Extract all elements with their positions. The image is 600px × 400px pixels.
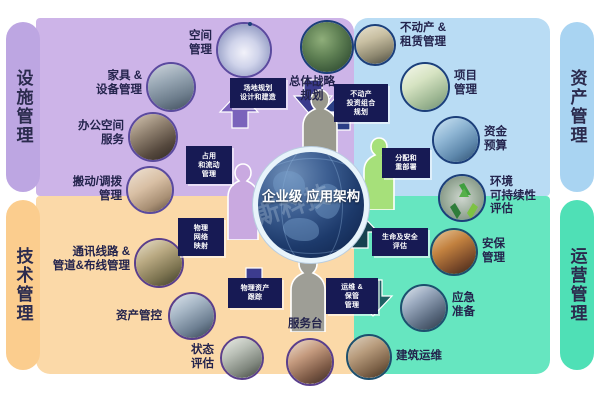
node-icon-security-management[interactable] [430,228,478,276]
moving-boxes-photo [128,168,172,212]
process-box-life-safety-assess[interactable]: 生命及安全 评估 [372,228,428,256]
recycle-photo [440,176,484,220]
server-monitor-photo [170,294,214,338]
office-desk-photo [148,64,194,110]
skyscraper-photo [356,26,394,64]
node-label-security-management: 安保 管理 [482,238,536,265]
node-icon-service-desk[interactable] [286,338,334,386]
process-box-ops-maintenance[interactable]: 运维 & 保管 管理 [326,278,378,314]
node-label-env-sustainability: 环境 可持续性 评估 [490,176,550,217]
node-icon-office-space-service[interactable] [128,112,178,162]
dam-water-photo [434,118,478,162]
node-label-realestate-lease: 不动产 & 租赁管理 [400,22,496,49]
recycle-icon [440,176,486,222]
node-icon-space-management[interactable] [216,22,272,78]
aerial-city-photo [302,22,352,72]
corridor-photo [218,24,270,76]
center-globe: 斯科技 企业级 应用架构 [253,147,369,263]
lightning-storm-photo [402,286,446,330]
spacer [248,22,252,26]
meeting-photo [130,114,176,160]
node-label-space-management: 空间 管理 [160,30,212,57]
maintenance-hands-photo [348,336,390,378]
node-icon-realestate-lease[interactable] [354,24,396,66]
node-label-service-desk: 服务台 [288,318,348,332]
globe-sphere: 斯科技 企业级 应用架构 [258,152,364,258]
node-icon-move-transfer[interactable] [126,166,174,214]
security-guard-photo [432,230,476,274]
node-icon-status-assessment[interactable] [220,336,264,380]
helpdesk-people-photo [288,340,332,384]
node-label-asset-control: 资产管控 [98,310,162,324]
node-icon-asset-control[interactable] [168,292,216,340]
network-room-photo [136,240,182,286]
process-box-allocation-redeploy[interactable]: 分配和 重部署 [382,148,430,178]
node-label-capital-budget: 资金 预算 [484,126,538,153]
node-label-furniture-equipment: 家具 & 设备管理 [76,70,142,97]
node-icon-building-ops[interactable] [346,334,392,380]
gantt-screen-photo [402,64,448,110]
node-label-emergency-prepare: 应急 准备 [452,292,506,319]
diagram-canvas: 设施管理 资产管理 技术管理 运营管理 [0,0,600,400]
node-icon-comm-cabling[interactable] [134,238,184,288]
node-icon-env-sustainability[interactable] [438,174,486,222]
node-icon-project-management[interactable] [400,62,450,112]
node-label-project-management: 项目 管理 [454,70,508,97]
process-box-occupancy-mobility[interactable]: 占用 和流动 管理 [186,146,232,184]
node-label-move-transfer: 搬动/调拨 管理 [52,176,122,203]
node-label-comm-cabling: 通讯线路 & 管道&布线管理 [44,246,130,273]
node-label-status-assessment: 状态 评估 [168,344,214,371]
node-icon-overall-strategy[interactable] [300,20,354,74]
node-icon-capital-budget[interactable] [432,116,480,164]
node-icon-furniture-equipment[interactable] [146,62,196,112]
process-box-site-planning-design[interactable]: 场地规划 设计和建造 [230,78,286,108]
node-label-building-ops: 建筑运维 [396,350,472,364]
inspector-photo [222,338,262,378]
process-box-physical-network-map[interactable]: 物理 网络 映射 [178,218,224,256]
node-icon-emergency-prepare[interactable] [400,284,448,332]
process-box-re-investment-portfolio[interactable]: 不动产 投资组合 规划 [334,84,388,122]
center-label: 企业级 应用架构 [258,188,364,205]
process-box-physical-asset-track[interactable]: 物理资产 跟踪 [228,278,282,308]
node-label-office-space-service: 办公空间 服务 [58,120,124,147]
